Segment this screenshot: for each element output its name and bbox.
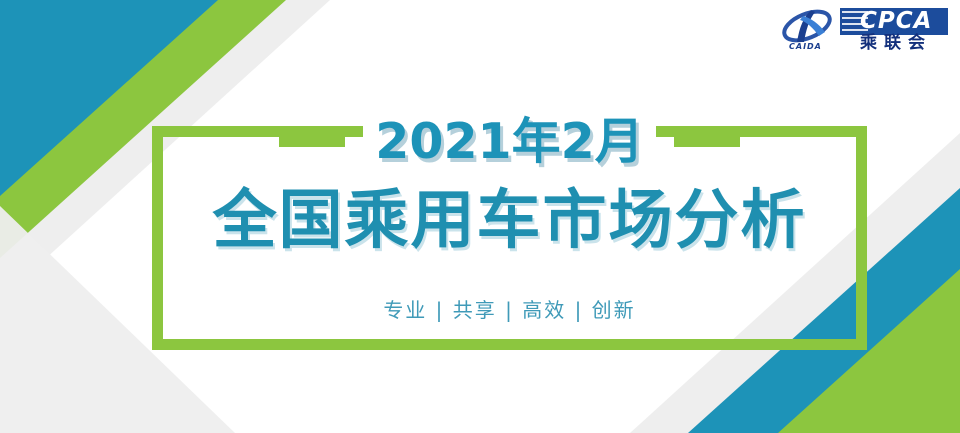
slide-headline: 全国乘用车市场分析 bbox=[152, 188, 867, 255]
slide-tagline: 专业 | 共享 | 高效 | 创新 bbox=[152, 294, 867, 323]
cpca-wordmark: CPCA 乘联会 bbox=[840, 8, 948, 52]
cpca-acronym: CPCA bbox=[860, 9, 932, 34]
slide-date-title: 2021年2月 bbox=[363, 117, 655, 166]
caida-swoosh-icon: CAIDA bbox=[781, 8, 835, 52]
date-title-row: 2021年2月 bbox=[152, 107, 867, 175]
cpca-logo: CAIDA CPCA 乘联会 bbox=[781, 6, 948, 54]
cpca-chinese-name: 乘联会 bbox=[860, 34, 932, 53]
right-accent-bar bbox=[674, 135, 740, 147]
slide-content: 2021年2月 全国乘用车市场分析 专业 | 共享 | 高效 | 创新 bbox=[152, 126, 867, 350]
caida-caption: CAIDA bbox=[789, 42, 822, 51]
left-accent-bar bbox=[279, 135, 345, 147]
presentation-slide: 2021年2月 全国乘用车市场分析 专业 | 共享 | 高效 | 创新 CAID… bbox=[0, 0, 960, 433]
